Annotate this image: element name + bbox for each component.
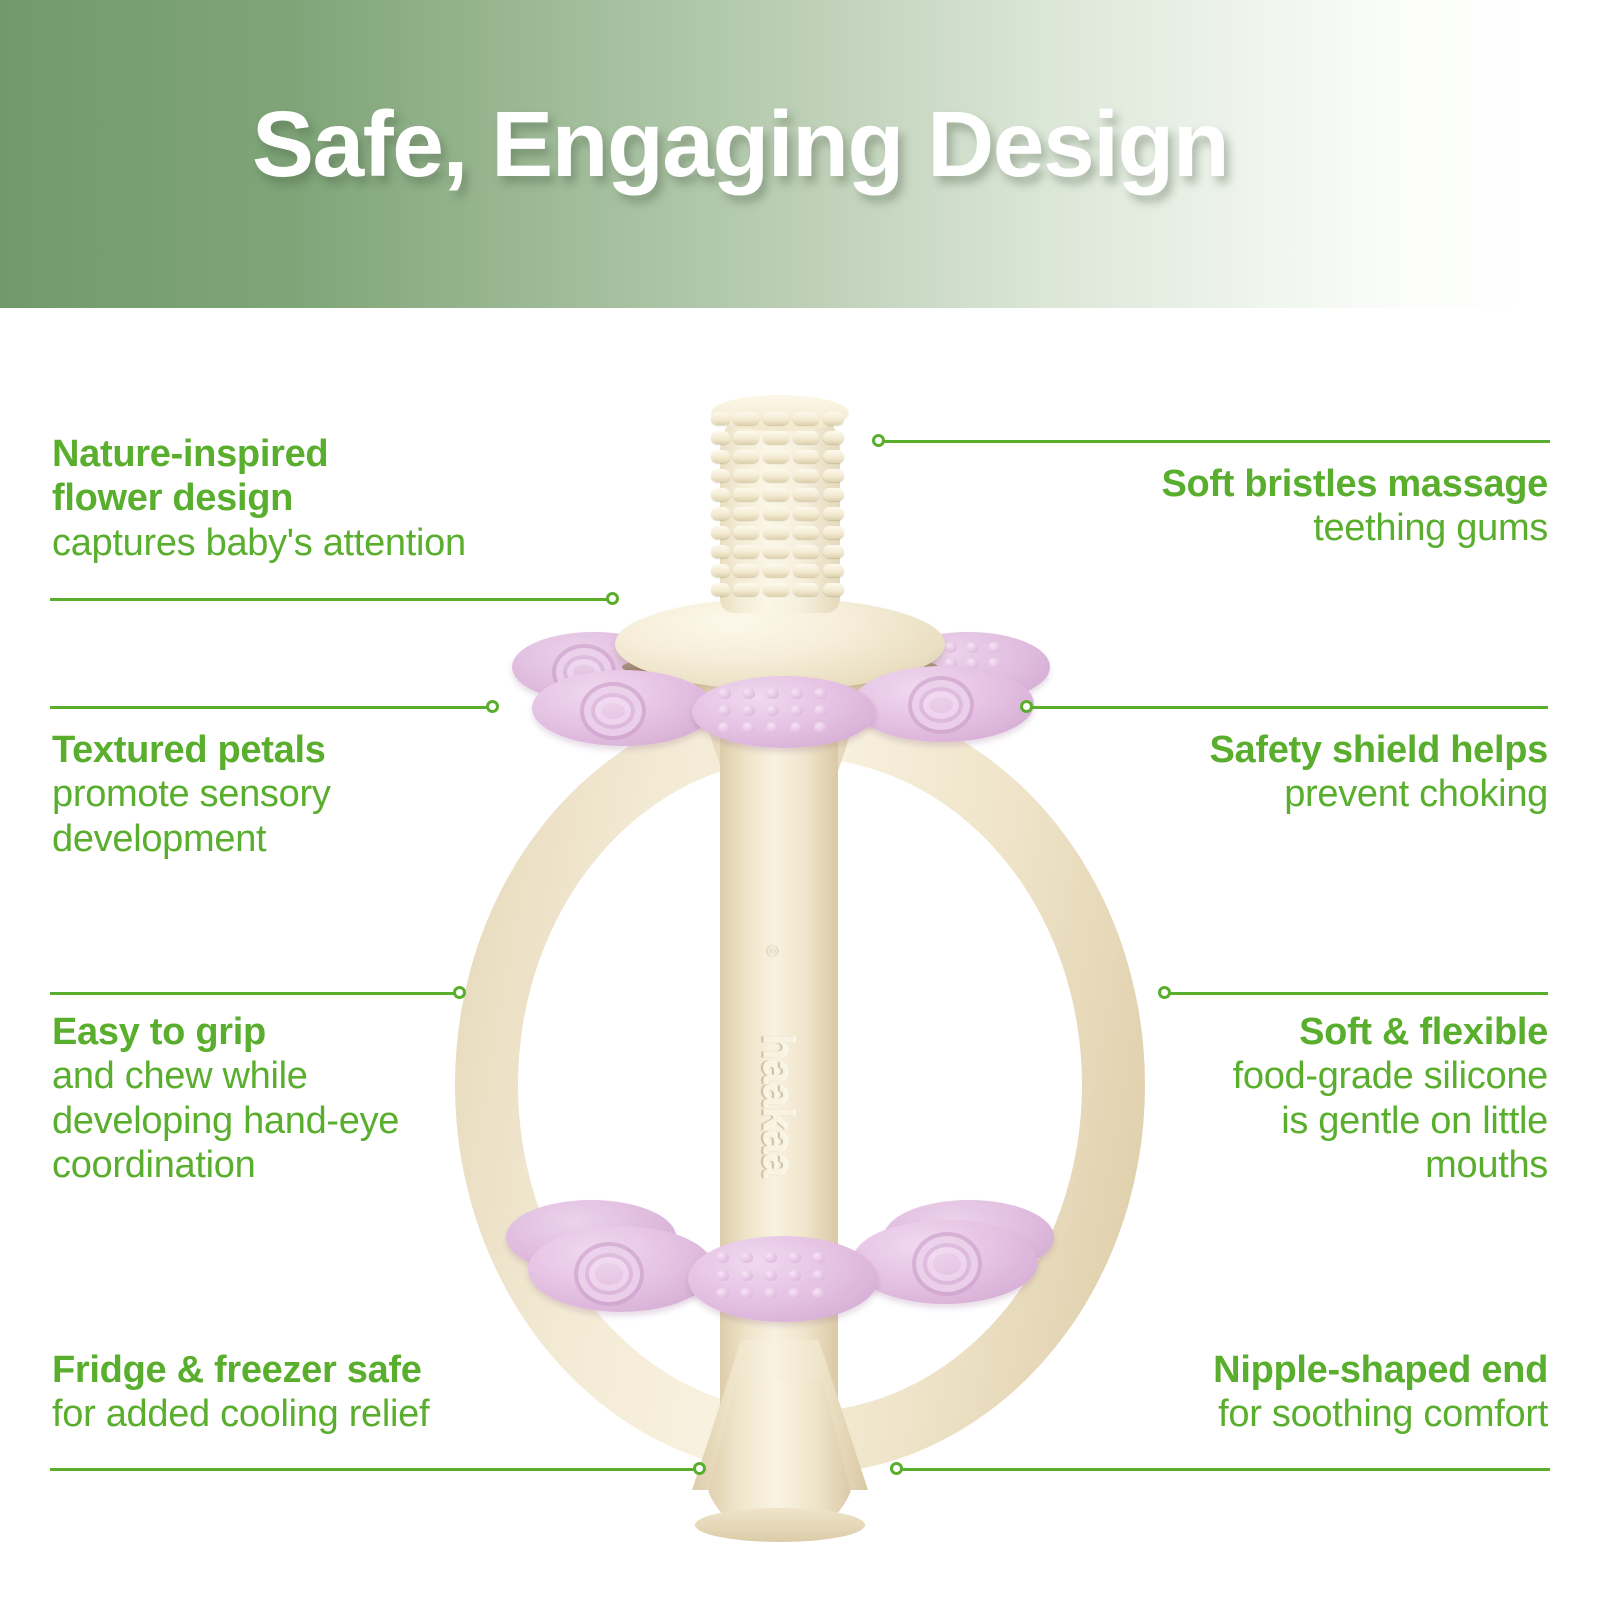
feature-textured-petals: Textured petals promote sensorydevelopme… (52, 728, 652, 861)
connector-endpoint-dot (693, 1462, 706, 1475)
petal-lower-right (852, 1220, 1038, 1304)
page-title: Safe, Engaging Design (252, 96, 1228, 194)
bristle-head (720, 398, 840, 613)
feature-title: Soft & flexible (948, 1010, 1548, 1054)
connector-line-right-4 (890, 1462, 1552, 1476)
petal-swirl-texture (574, 1242, 644, 1306)
feature-title: Nipple-shaped end (948, 1348, 1548, 1392)
feature-body: prevent choking (948, 772, 1548, 816)
connector-line-right-2 (1020, 700, 1550, 714)
connector-line-left-1 (50, 592, 620, 606)
petal-upper-center (692, 676, 876, 748)
feature-body: for added cooling relief (52, 1392, 692, 1436)
connector-endpoint-dot (453, 986, 466, 999)
feature-body: promote sensorydevelopment (52, 772, 652, 861)
petal-swirl-texture (908, 676, 974, 734)
feature-safety-shield: Safety shield helps prevent choking (948, 728, 1548, 817)
infographic-canvas: Safe, Engaging Design ® haakaa (0, 0, 1600, 1600)
feature-body: teething gums (948, 506, 1548, 550)
feature-body: for soothing comfort (948, 1392, 1548, 1436)
feature-nature-inspired: Nature-inspiredflower design captures ba… (52, 432, 652, 565)
feature-title: Fridge & freezer safe (52, 1348, 692, 1392)
feature-title: Safety shield helps (948, 728, 1548, 772)
feature-body: and chew whiledeveloping hand-eyecoordin… (52, 1054, 672, 1187)
connector-line-left-2 (50, 700, 500, 714)
petal-swirl-texture (912, 1232, 982, 1296)
petal-lower-center (688, 1236, 878, 1322)
registered-mark-icon: ® (762, 945, 782, 958)
feature-soft-bristles: Soft bristles massage teething gums (948, 462, 1548, 551)
feature-body: food-grade siliconeis gentle on littlemo… (948, 1054, 1548, 1187)
petal-lower-left (528, 1226, 714, 1312)
feature-body: captures baby's attention (52, 521, 652, 565)
connector-line-right-1 (872, 434, 1552, 448)
feature-nipple-shaped-end: Nipple-shaped end for soothing comfort (948, 1348, 1548, 1437)
connector-line-left-4 (50, 1462, 710, 1476)
nipple-end-foot (695, 1508, 865, 1542)
feature-easy-to-grip: Easy to grip and chew whiledeveloping ha… (52, 1010, 672, 1188)
feature-soft-flexible: Soft & flexible food-grade siliconeis ge… (948, 1010, 1548, 1188)
connector-line-left-3 (50, 986, 470, 1000)
feature-title: Easy to grip (52, 1010, 672, 1054)
feature-title: Textured petals (52, 728, 652, 772)
feature-fridge-freezer-safe: Fridge & freezer safe for added cooling … (52, 1348, 692, 1437)
connector-endpoint-dot (486, 700, 499, 713)
feature-title: Nature-inspiredflower design (52, 432, 652, 521)
connector-line-right-3 (1158, 986, 1550, 1000)
feature-title: Soft bristles massage (948, 462, 1548, 506)
connector-endpoint-dot (606, 592, 619, 605)
